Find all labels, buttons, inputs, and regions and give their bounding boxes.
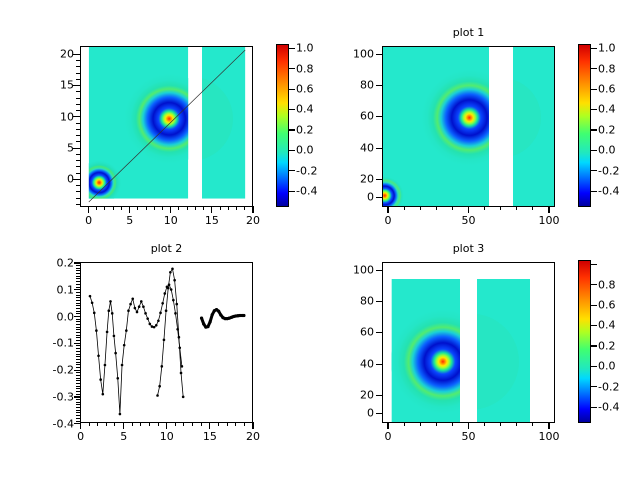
data-point-marker	[106, 331, 109, 334]
ytick-label: 0.2	[34, 257, 74, 270]
xtick-label: 0	[85, 214, 92, 227]
colorbar-tick-label: 1.0	[296, 42, 314, 55]
panel-bottom-left: plot 2 0.2 0.1 0.0 -0.1 -0.2 -0.3 -0.4 0…	[0, 240, 320, 480]
panel-top-left-image	[81, 47, 252, 206]
data-point-marker	[175, 303, 178, 306]
minor-ytick	[76, 327, 80, 328]
panel-bottom-left-frame	[80, 262, 253, 423]
data-point-marker	[146, 317, 149, 320]
minor-ytick	[76, 364, 80, 365]
data-point-marker	[217, 310, 220, 313]
figure-canvas: 20 15 10 5 0	[0, 0, 640, 480]
minor-ytick	[76, 391, 80, 392]
minor-ytick	[76, 370, 80, 371]
colorbar-tick-label: 0.0	[598, 360, 616, 373]
panel-top-left-frame	[80, 46, 253, 207]
ytick-label: 20	[44, 48, 74, 61]
minor-ytick	[76, 284, 80, 285]
data-point-marker	[159, 312, 162, 315]
colorbar-tick-label: 0.2	[598, 123, 616, 136]
ytick-label: 5	[44, 141, 74, 154]
data-point-marker	[158, 385, 161, 388]
panel-bottom-left-title: plot 2	[80, 242, 253, 255]
ytick-label: 10	[44, 110, 74, 123]
minor-ytick	[76, 265, 80, 266]
ytick-label: 20	[336, 172, 374, 185]
data-point-marker	[116, 377, 119, 380]
ytick-label: 15	[44, 79, 74, 92]
data-point-marker	[169, 271, 172, 274]
ytick-label: 80	[336, 294, 374, 307]
colorbar-tick-label: 1.0	[598, 42, 616, 55]
colorbar-tick-label: -0.2	[296, 164, 317, 177]
minor-ytick	[76, 313, 80, 314]
xtick-label: 50	[462, 430, 476, 443]
colorbar-tick-label: 0.0	[296, 144, 314, 157]
ytick-label: 0	[336, 191, 374, 204]
minor-ytick	[76, 367, 80, 368]
minor-ytick	[76, 329, 80, 330]
minor-ytick	[76, 351, 80, 352]
minor-ytick	[76, 278, 80, 279]
data-point-marker	[140, 300, 143, 303]
data-point-marker	[206, 325, 209, 328]
colorbar-tick-label: 0.4	[598, 319, 616, 332]
colorbar-tick-label: -0.2	[598, 164, 619, 177]
data-point-marker	[121, 364, 124, 367]
colorbar-tick-label: 0.6	[598, 299, 616, 312]
minor-ytick	[76, 316, 80, 317]
ytick-label: 0.0	[34, 310, 74, 323]
ytick-label: -0.3	[34, 391, 74, 404]
minor-ytick	[76, 410, 80, 411]
data-point-marker	[182, 396, 185, 399]
data-point-marker	[161, 365, 164, 368]
data-point-marker	[163, 339, 166, 342]
minor-ytick	[76, 343, 80, 344]
colorbar-tick-label: 0.2	[598, 339, 616, 352]
minor-ytick	[76, 273, 80, 274]
data-point-marker	[173, 279, 176, 282]
minor-ytick	[76, 380, 80, 381]
xtick-label: 50	[462, 214, 476, 227]
data-point-marker	[129, 303, 132, 306]
minor-ytick	[76, 412, 80, 413]
ytick-label: -0.1	[34, 337, 74, 350]
minor-ytick	[76, 394, 80, 395]
data-point-marker	[200, 317, 203, 320]
data-point-marker	[172, 299, 175, 302]
data-point-marker	[242, 314, 245, 317]
data-point-marker	[134, 307, 137, 310]
data-point-marker	[102, 393, 105, 396]
xtick-label: 20	[246, 214, 260, 227]
minor-ytick	[76, 375, 80, 376]
data-point-marker	[123, 344, 126, 347]
colorbar-tick-label: 0.8	[598, 278, 616, 291]
xtick-label: 0	[77, 430, 84, 443]
data-point-marker	[111, 312, 114, 315]
colorbar-tick-label: -0.2	[598, 380, 619, 393]
minor-ytick	[76, 276, 80, 277]
minor-ytick	[76, 388, 80, 389]
minor-ytick	[76, 415, 80, 416]
xtick-label: 20	[246, 430, 260, 443]
colorbar-tick-label: 0.6	[296, 83, 314, 96]
data-point-marker	[119, 413, 122, 416]
ytick-label: -0.4	[34, 417, 74, 430]
data-point-marker	[155, 324, 158, 327]
colorbar-tick-label: 0.4	[296, 103, 314, 116]
data-point-marker	[180, 372, 183, 375]
ytick-label: 40	[336, 141, 374, 154]
minor-ytick	[76, 303, 80, 304]
minor-ytick	[76, 289, 80, 290]
data-point-marker	[163, 292, 166, 295]
minor-ytick	[76, 383, 80, 384]
minor-ytick	[76, 324, 80, 325]
xtick-label: 100	[539, 214, 560, 227]
xtick-label: 100	[539, 430, 560, 443]
xtick-label: 0	[385, 214, 392, 227]
minor-ytick	[76, 354, 80, 355]
minor-ytick	[76, 356, 80, 357]
data-point-marker	[131, 297, 134, 300]
panel-top-right-title: plot 1	[382, 26, 555, 39]
minor-ytick	[76, 321, 80, 322]
panel-top-left: 20 15 10 5 0	[0, 0, 320, 240]
data-point-marker	[219, 313, 222, 316]
minor-ytick	[76, 319, 80, 320]
xtick-label: 15	[205, 214, 219, 227]
ytick-label: 0	[336, 407, 374, 420]
minor-ytick	[76, 300, 80, 301]
minor-ytick	[76, 281, 80, 282]
minor-ytick	[76, 311, 80, 312]
colorbar-tick-label: 0.2	[296, 123, 314, 136]
data-point-marker	[144, 312, 147, 315]
colorbar-tick-label: 0.8	[296, 62, 314, 75]
data-point-marker	[125, 329, 128, 332]
minor-ytick	[76, 407, 80, 408]
data-point-marker	[109, 300, 112, 303]
data-point-marker	[211, 313, 214, 316]
colorbar-tick-label: 0.4	[598, 103, 616, 116]
data-point-marker	[97, 354, 100, 357]
data-point-marker	[99, 378, 102, 381]
ytick-label: 100	[336, 263, 374, 276]
ytick-label: 40	[336, 357, 374, 370]
minor-ytick	[76, 337, 80, 338]
data-point-marker	[113, 335, 116, 338]
data-point-marker	[156, 394, 159, 397]
panel-top-right-frame	[382, 46, 555, 207]
data-point-marker	[114, 352, 117, 355]
colorbar-tick-label: -0.4	[598, 185, 619, 198]
ytick-label: 60	[336, 110, 374, 123]
minor-ytick	[76, 332, 80, 333]
minor-ytick	[76, 287, 80, 288]
minor-ytick	[76, 362, 80, 363]
xtick-label: 10	[160, 430, 174, 443]
minor-ytick	[76, 340, 80, 341]
xtick-label: 0	[385, 430, 392, 443]
minor-ytick	[76, 268, 80, 269]
colorbar-tick-label: 0.0	[598, 144, 616, 157]
data-point-marker	[142, 305, 145, 308]
minor-ytick	[76, 270, 80, 271]
minor-ytick	[76, 292, 80, 293]
data-point-marker	[167, 287, 170, 290]
data-point-marker	[174, 312, 177, 315]
minor-ytick	[76, 378, 80, 379]
xtick-label: 5	[126, 214, 133, 227]
panel-top-right: plot 1	[320, 0, 640, 240]
data-point-marker	[136, 311, 139, 314]
data-point-marker	[209, 320, 212, 323]
panel-bottom-right-title: plot 3	[382, 242, 555, 255]
data-point-marker	[157, 319, 160, 322]
xtick-label: 10	[164, 214, 178, 227]
minor-ytick	[76, 335, 80, 336]
data-point-marker	[89, 295, 92, 298]
ytick-label: 0	[44, 173, 74, 186]
minor-ytick	[76, 345, 80, 346]
ytick-label: 80	[336, 78, 374, 91]
data-point-marker	[138, 305, 141, 308]
data-point-marker	[104, 364, 107, 367]
xtick-label: 5	[120, 430, 127, 443]
data-point-marker	[161, 302, 164, 305]
minor-ytick	[76, 399, 80, 400]
data-point-marker	[127, 309, 130, 312]
ytick-label: 100	[336, 47, 374, 60]
data-point-marker	[165, 309, 168, 312]
minor-ytick	[76, 308, 80, 309]
data-point-marker	[170, 288, 173, 291]
data-point-marker	[149, 323, 152, 326]
panel-top-right-image	[383, 47, 554, 206]
colorbar-tick-label: 0.8	[598, 62, 616, 75]
minor-ytick	[76, 372, 80, 373]
minor-ytick	[76, 418, 80, 419]
ytick-label: 0.1	[34, 283, 74, 296]
colorbar-tick-label: 0.6	[598, 83, 616, 96]
xtick-label: 15	[203, 430, 217, 443]
data-point-marker	[202, 322, 205, 325]
panel-bottom-right: plot 3	[320, 240, 640, 480]
minor-ytick	[76, 297, 80, 298]
minor-ytick	[76, 402, 80, 403]
minor-ytick	[76, 404, 80, 405]
data-point-marker	[91, 301, 94, 304]
minor-ytick	[76, 305, 80, 306]
minor-ytick	[76, 295, 80, 296]
data-point-marker	[171, 268, 174, 271]
data-point-marker	[178, 336, 181, 339]
data-point-marker	[153, 326, 156, 329]
minor-ytick	[76, 359, 80, 360]
panel-bottom-right-image	[383, 263, 554, 422]
ytick-label: 60	[336, 326, 374, 339]
panel-bottom-right-frame	[382, 262, 555, 423]
minor-ytick	[76, 396, 80, 397]
ytick-label: -0.2	[34, 364, 74, 377]
minor-ytick	[76, 386, 80, 387]
colorbar-tick-label: -0.4	[598, 401, 619, 414]
colorbar-tick-label: -0.4	[296, 185, 317, 198]
minor-ytick	[76, 348, 80, 349]
panel-bottom-left-series	[81, 263, 252, 422]
data-point-marker	[95, 329, 98, 332]
ytick-label: 20	[336, 388, 374, 401]
data-point-marker	[93, 312, 96, 315]
minor-ytick	[76, 262, 80, 263]
data-point-marker	[107, 309, 110, 312]
